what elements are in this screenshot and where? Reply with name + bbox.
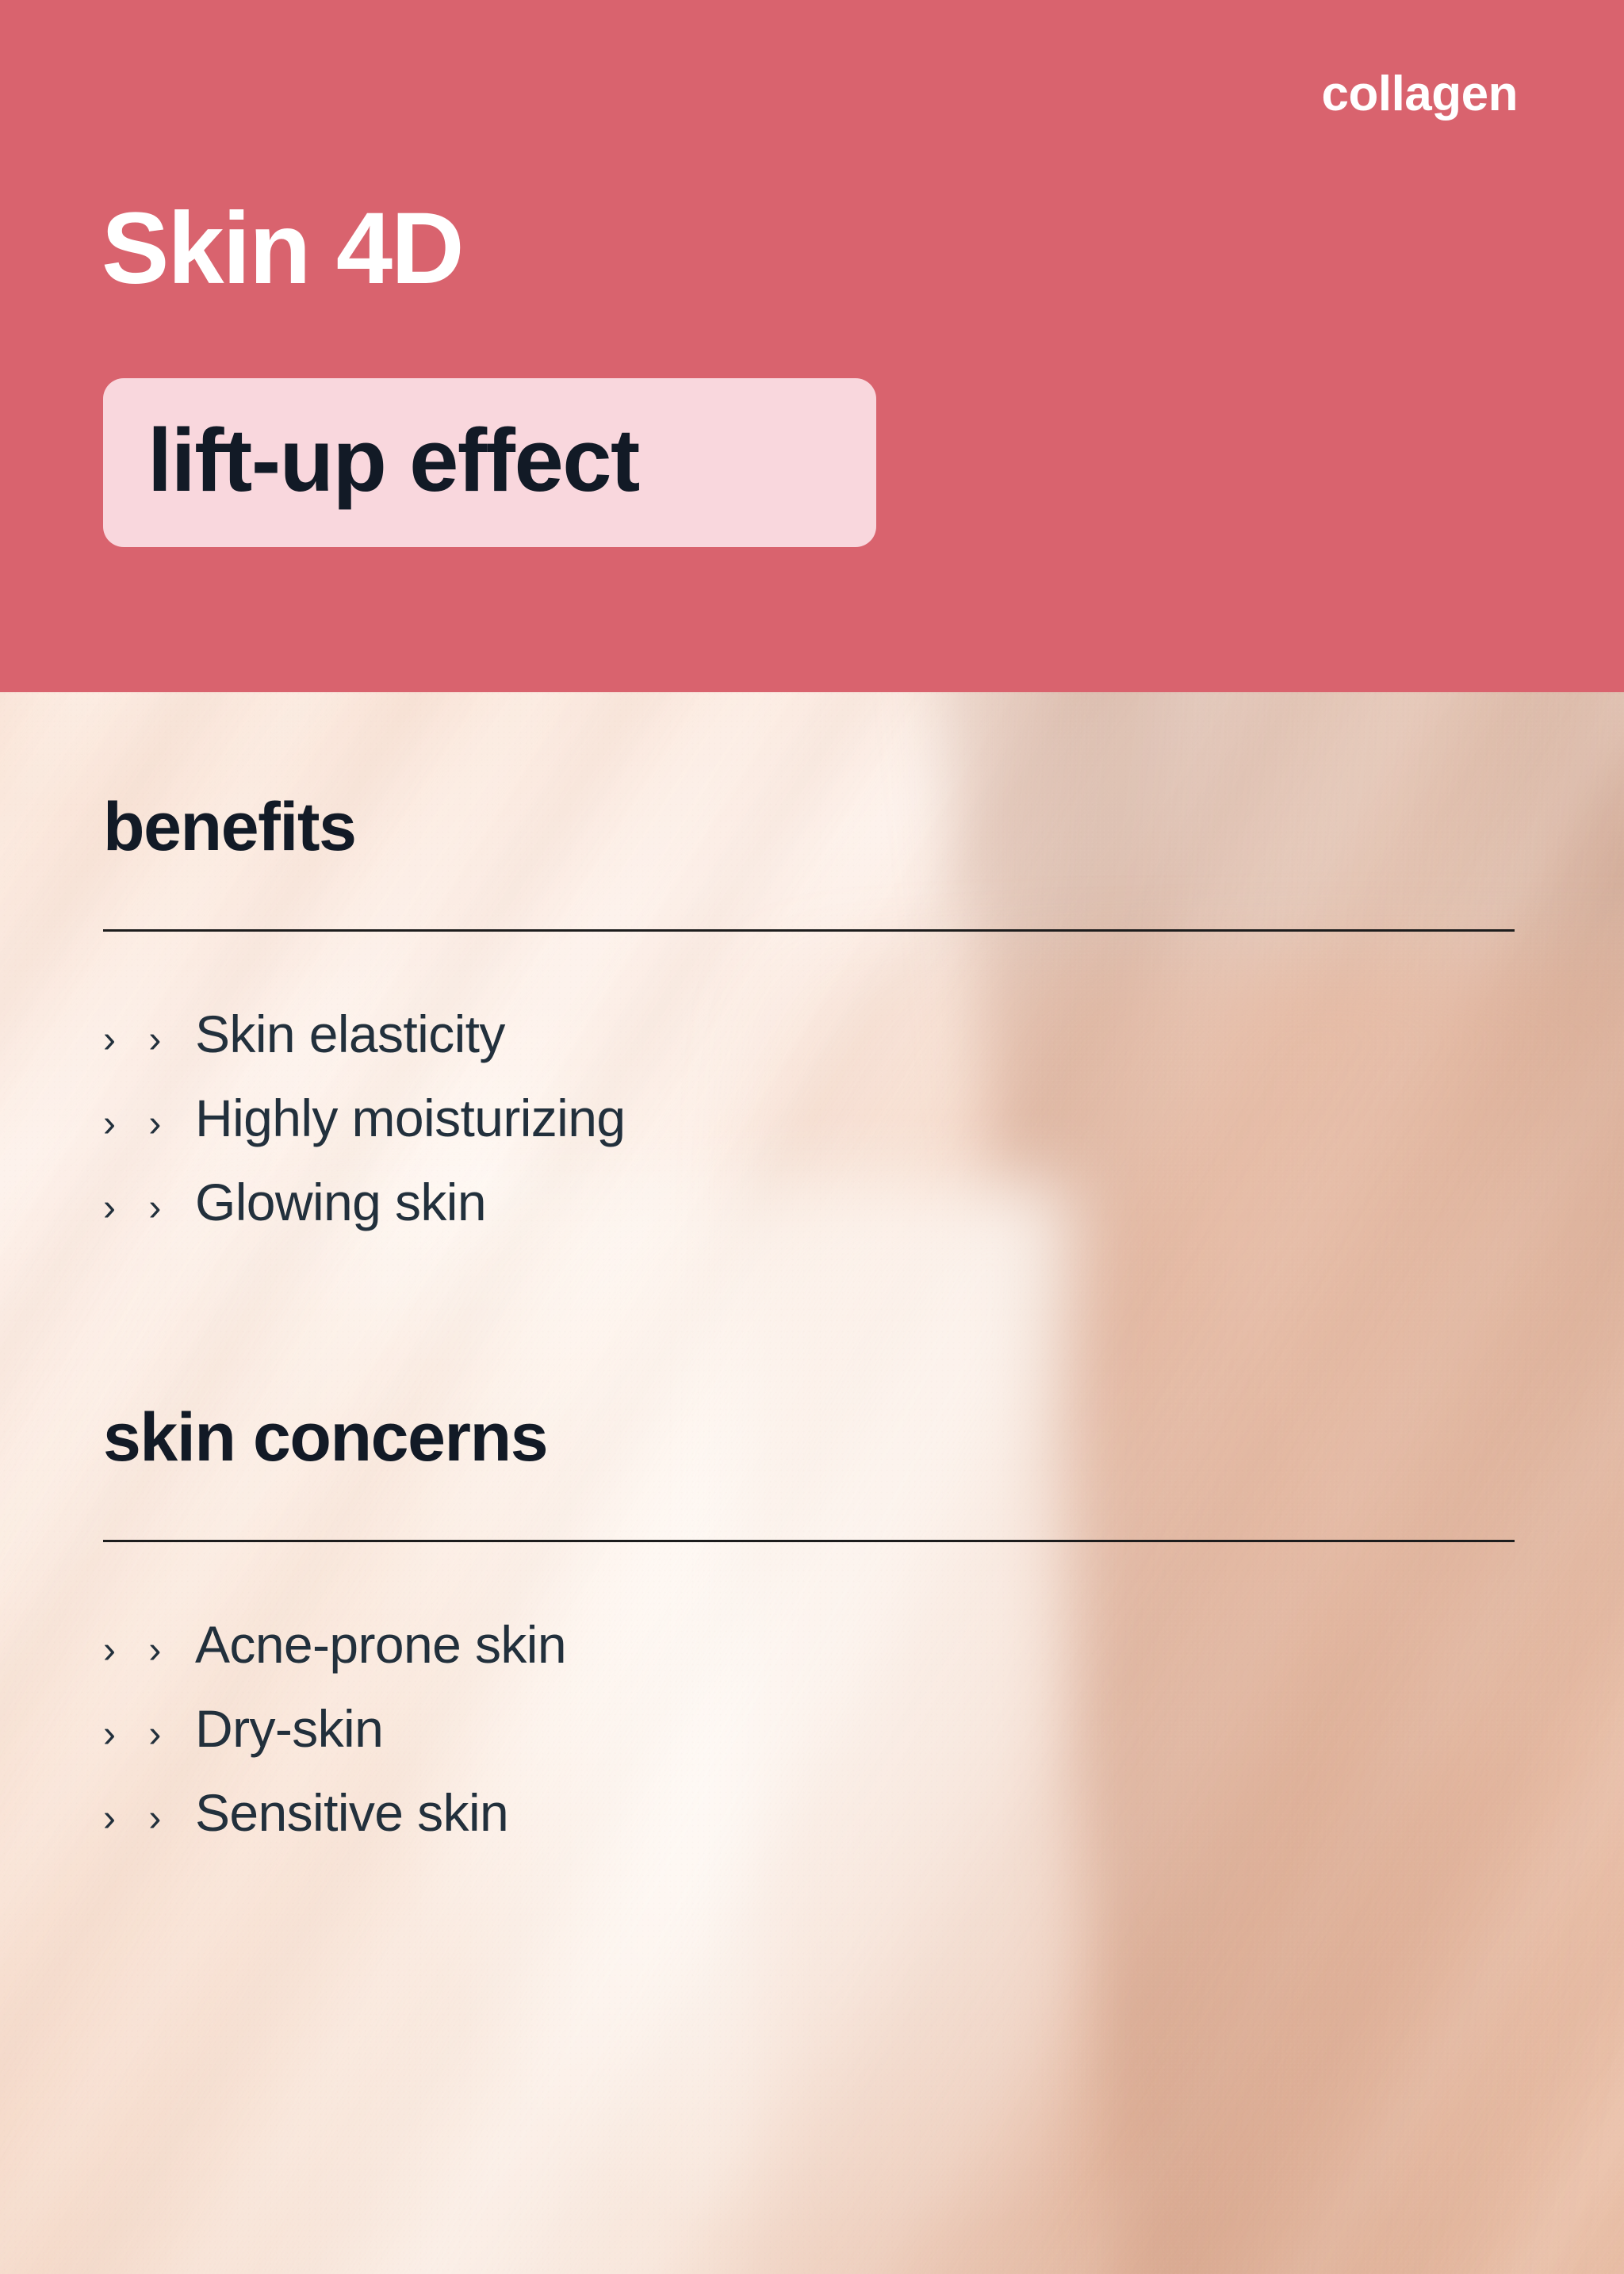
- badge-label: lift-up effect: [103, 416, 639, 505]
- benefits-list: › › Skin elasticity › › Highly moisturiz…: [103, 1008, 1515, 1228]
- section-benefits: benefits › › Skin elasticity › › Highly …: [103, 793, 1515, 1260]
- lift-up-effect-badge: lift-up effect: [103, 378, 876, 547]
- list-item: › › Sensitive skin: [103, 1786, 1515, 1839]
- section-skin-concerns: skin concerns › › Acne-prone skin › › Dr…: [103, 1403, 1515, 1870]
- skin-concerns-list: › › Acne-prone skin › › Dry-skin › › Sen…: [103, 1618, 1515, 1839]
- list-item: › › Acne-prone skin: [103, 1618, 1515, 1671]
- poster-canvas: collagen Skin 4D lift-up effect benefits…: [0, 0, 1624, 2274]
- list-item-label: Dry-skin: [195, 1702, 383, 1755]
- brand-wordmark: collagen: [1321, 70, 1518, 119]
- list-item: › › Glowing skin: [103, 1176, 1515, 1228]
- double-chevron-icon: › ›: [103, 1716, 195, 1754]
- double-chevron-icon: › ›: [103, 1632, 195, 1670]
- page-title: Skin 4D: [101, 198, 463, 300]
- divider-skin-concerns: [103, 1540, 1515, 1542]
- list-item: › › Skin elasticity: [103, 1008, 1515, 1060]
- double-chevron-icon: › ›: [103, 1800, 195, 1838]
- section-heading-benefits: benefits: [103, 793, 1515, 861]
- divider-benefits: [103, 929, 1515, 932]
- header-banner: collagen Skin 4D lift-up effect: [0, 0, 1624, 692]
- double-chevron-icon: › ›: [103, 1021, 195, 1059]
- list-item-label: Skin elasticity: [195, 1008, 505, 1060]
- double-chevron-icon: › ›: [103, 1189, 195, 1227]
- list-item: › › Highly moisturizing: [103, 1092, 1515, 1144]
- list-item-label: Highly moisturizing: [195, 1092, 625, 1144]
- list-item-label: Glowing skin: [195, 1176, 486, 1228]
- list-item-label: Sensitive skin: [195, 1786, 508, 1839]
- double-chevron-icon: › ›: [103, 1105, 195, 1143]
- section-heading-skin-concerns: skin concerns: [103, 1403, 1515, 1472]
- list-item: › › Dry-skin: [103, 1702, 1515, 1755]
- list-item-label: Acne-prone skin: [195, 1618, 566, 1671]
